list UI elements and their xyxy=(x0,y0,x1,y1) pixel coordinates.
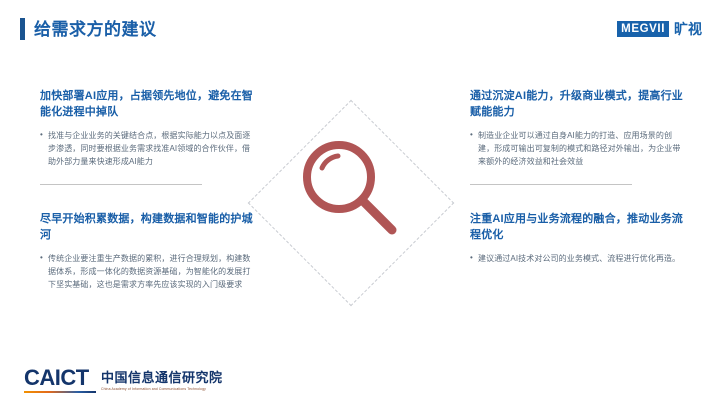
block-spacer xyxy=(470,185,685,211)
page-title-bar: 给需求方的建议 xyxy=(20,18,157,40)
content-block: 尽早开始积累数据，构建数据和智能的护城河 传统企业要注重生产数据的累积，进行合理… xyxy=(40,211,255,291)
content-column-left: 加快部署AI应用，占据领先地位，避免在智能化进程中掉队 找准与企业业务的关键结合… xyxy=(40,88,255,291)
content-block: 注重AI应用与业务流程的融合，推动业务流程优化 建议通过AI技术对公司的业务模式… xyxy=(470,211,685,265)
block-heading: 注重AI应用与业务流程的融合，推动业务流程优化 xyxy=(470,211,685,243)
caict-name-cn: 中国信息通信研究院 xyxy=(101,370,223,385)
center-graphic xyxy=(248,100,455,307)
content-column-right: 通过沉淀AI能力，升级商业模式，提高行业赋能能力 制造业企业可以通过自身AI能力… xyxy=(470,88,685,265)
block-body: 找准与企业业务的关键结合点，根据实际能力以点及面逐步渗透，同时要根据业务需求找准… xyxy=(40,129,255,168)
caict-wordmark: CAICT xyxy=(24,367,96,389)
block-heading: 尽早开始积累数据，构建数据和智能的护城河 xyxy=(40,211,255,243)
page-title: 给需求方的建议 xyxy=(34,21,157,38)
block-heading: 通过沉淀AI能力，升级商业模式，提高行业赋能能力 xyxy=(470,88,685,120)
caict-logo-left: CAICT xyxy=(24,367,96,393)
block-body: 建议通过AI技术对公司的业务模式、流程进行优化再造。 xyxy=(470,252,685,265)
title-accent-bar xyxy=(20,18,25,40)
brand-logo: MEGVII 旷视 xyxy=(617,20,702,38)
block-separator xyxy=(40,184,202,185)
caict-underline xyxy=(24,391,96,393)
block-body: 传统企业要注重生产数据的累积，进行合理规划，构建数据体系，形成一体化的数据资源基… xyxy=(40,252,255,291)
block-heading: 加快部署AI应用，占据领先地位，避免在智能化进程中掉队 xyxy=(40,88,255,120)
brand-wordmark: MEGVII xyxy=(617,21,669,37)
content-block: 加快部署AI应用，占据领先地位，避免在智能化进程中掉队 找准与企业业务的关键结合… xyxy=(40,88,255,185)
brand-name-cn: 旷视 xyxy=(674,22,702,36)
caict-name-en: China Academy of Information and Communi… xyxy=(101,386,223,392)
slide-canvas: 给需求方的建议 MEGVII 旷视 加快部署AI应用，占据领先地位，避免在智能化… xyxy=(0,0,720,405)
caict-logo: CAICT 中国信息通信研究院 China Academy of Informa… xyxy=(24,367,223,393)
block-spacer xyxy=(40,185,255,211)
magnifier-icon xyxy=(294,132,410,248)
block-separator xyxy=(470,184,632,185)
block-body: 制造业企业可以通过自身AI能力的打造、应用场景的创建，形成可输出可复制的模式和路… xyxy=(470,129,685,168)
content-block: 通过沉淀AI能力，升级商业模式，提高行业赋能能力 制造业企业可以通过自身AI能力… xyxy=(470,88,685,185)
caict-logo-right: 中国信息通信研究院 China Academy of Information a… xyxy=(101,370,223,393)
